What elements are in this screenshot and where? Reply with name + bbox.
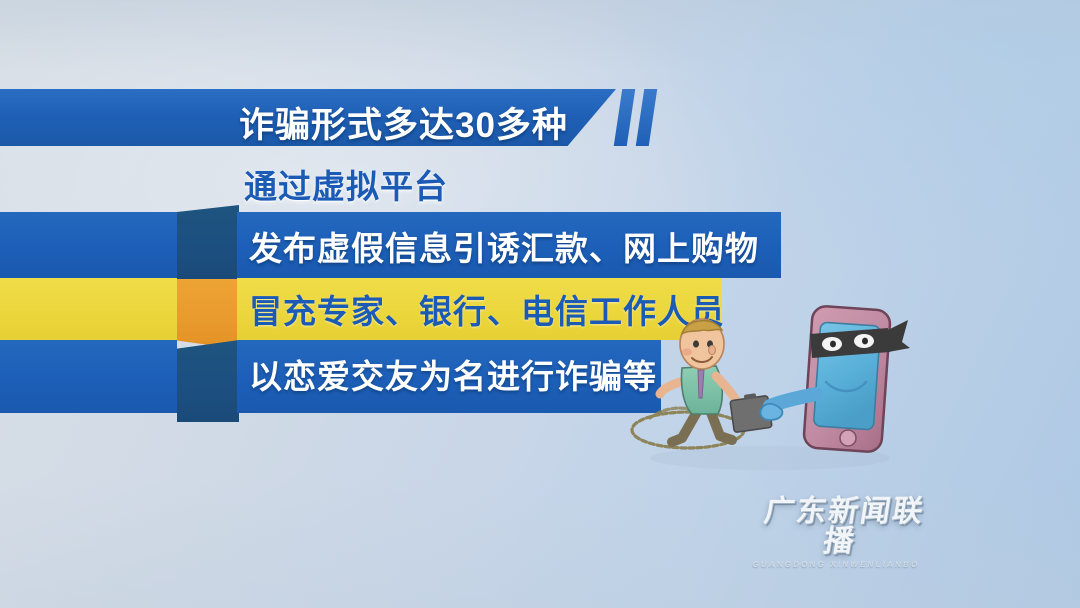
bullet-text-1: 发布虚假信息引诱汇款、网上购物 — [249, 222, 759, 270]
broadcast-graphic: 诈骗形式多达30多种 通过虚拟平台 发布虚假信息引诱汇款、网上购物 冒充专家、银… — [0, 0, 1080, 608]
bullet-bar-2-fold-face — [177, 279, 239, 349]
phone-bandit-character — [760, 305, 910, 452]
bullet-text-3: 以恋爱交友为名进行诈骗等 — [249, 350, 657, 398]
channel-logo-subtitle: GUANGDONG XINWENLIANBO — [746, 560, 925, 569]
bullet-bar-3-fold-face — [177, 340, 239, 422]
accent-stripe-1 — [614, 89, 636, 146]
businessman-figure — [660, 319, 772, 442]
bullet-bar-1-left-face — [0, 212, 177, 278]
subhead-text: 通过虚拟平台 — [244, 160, 448, 208]
bullet-bar-3-left-face — [0, 340, 177, 413]
scam-illustration — [620, 290, 910, 480]
bullet-bar-2-left-face — [0, 278, 177, 340]
channel-logo-title: 广东新闻联播 — [748, 497, 936, 557]
businessman-head — [680, 319, 724, 369]
accent-stripe-2 — [636, 89, 658, 146]
headline-text: 诈骗形式多达30多种 — [239, 97, 568, 148]
channel-logo: 广东新闻联播 GUANGDONG XINWENLIANBO — [746, 497, 935, 569]
bullet-bar-1-fold-face — [177, 205, 239, 279]
